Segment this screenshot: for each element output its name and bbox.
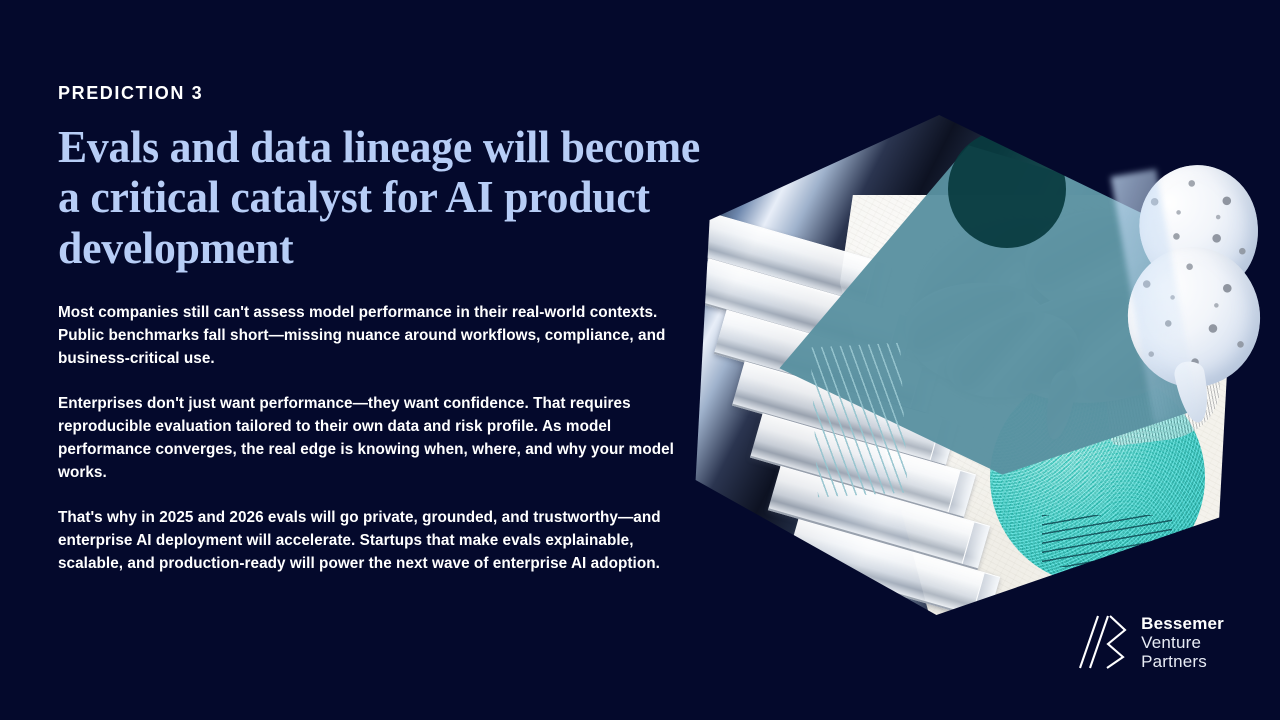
collage-graphic bbox=[690, 95, 1280, 605]
diagonal-line-group-lower bbox=[1042, 515, 1172, 567]
paragraph-3: That's why in 2025 and 2026 evals will g… bbox=[58, 506, 678, 576]
diagonal-line-group-upper bbox=[810, 343, 908, 498]
body-copy: Most companies still can't assess model … bbox=[58, 301, 678, 576]
paragraph-2: Enterprises don't just want performance—… bbox=[58, 392, 678, 485]
brand-wordmark: Bessemer Venture Partners bbox=[1141, 615, 1224, 670]
logo-line-3: Partners bbox=[1141, 653, 1224, 670]
brand-logo: Bessemer Venture Partners bbox=[1076, 614, 1224, 670]
logo-line-1: Bessemer bbox=[1141, 615, 1224, 632]
text-column: PREDICTION 3 Evals and data lineage will… bbox=[58, 84, 718, 575]
paragraph-1: Most companies still can't assess model … bbox=[58, 301, 678, 371]
bessemer-slash-mark-icon bbox=[1076, 614, 1128, 670]
logo-line-2: Venture bbox=[1141, 634, 1224, 651]
kicker-label: PREDICTION 3 bbox=[58, 84, 718, 104]
dark-teal-circle-shape bbox=[948, 130, 1066, 248]
speckled-balloon-spheres-icon bbox=[1122, 165, 1280, 435]
page-title: Evals and data lineage will become a cri… bbox=[58, 122, 708, 273]
